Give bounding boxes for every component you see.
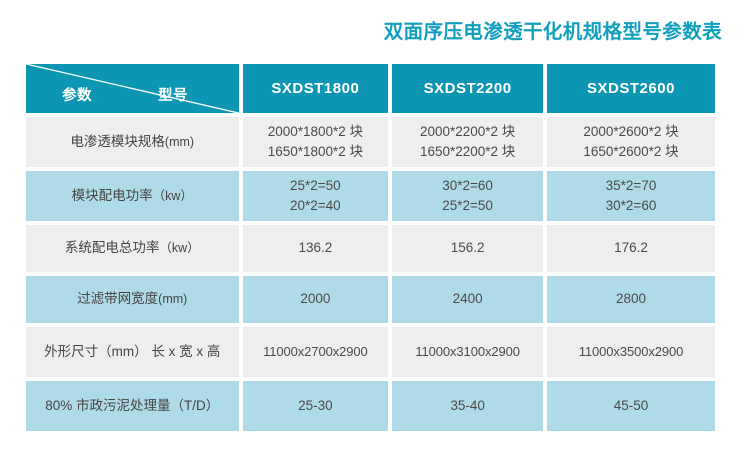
value-line: 2000*2600*2 块	[547, 122, 715, 142]
param-label-text: 过滤带网宽度	[77, 291, 158, 306]
row-label-cell: 外形尺寸（mm） 长 x 宽 x 高	[26, 327, 239, 377]
specification-table: 参数 型号 SXDST1800 SXDST2200 SXDST2600 电渗透模…	[22, 60, 719, 435]
value-group: 11000x2700x2900	[243, 342, 389, 362]
param-label: 系统配电总功率（kw）	[26, 238, 239, 258]
value-line: 1650*2200*2 块	[392, 142, 543, 162]
row-label-cell: 系统配电总功率（kw）	[26, 225, 239, 272]
header-corner-cell: 参数 型号	[26, 64, 239, 113]
value-cell: 11000x3100x2900	[392, 327, 543, 377]
value-line: 11000x3500x2900	[547, 342, 715, 362]
page-title: 双面序压电渗透干化机规格型号参数表	[0, 22, 722, 43]
value-line: 2800	[547, 289, 715, 309]
value-line: 136.2	[243, 238, 389, 258]
param-label: 外形尺寸（mm） 长 x 宽 x 高	[26, 342, 239, 362]
param-label-text: 模块配电功率	[72, 188, 153, 203]
header-model-sxdst2200: SXDST2200	[392, 64, 543, 113]
value-cell: 2000*2200*2 块 1650*2200*2 块	[392, 117, 543, 167]
value-line: 25*2=50	[392, 196, 543, 216]
value-line: 1650*1800*2 块	[243, 142, 389, 162]
value-line: 30*2=60	[547, 196, 715, 216]
value-cell: 2000*2600*2 块 1650*2600*2 块	[547, 117, 715, 167]
param-label-text: 系统配电总功率	[65, 240, 160, 255]
header-model-label: 型号	[158, 89, 188, 104]
value-line: 45-50	[547, 396, 715, 416]
table-row: 过滤带网宽度(mm) 2000 2400 2800	[26, 276, 715, 323]
param-label-sub: 长 x 宽 x 高	[151, 344, 220, 359]
value-cell: 2000*1800*2 块 1650*1800*2 块	[243, 117, 389, 167]
value-group: 35*2=70 30*2=60	[547, 176, 715, 217]
value-cell: 2000	[243, 276, 389, 323]
param-label: 过滤带网宽度(mm)	[26, 289, 239, 309]
value-group: 25*2=50 20*2=40	[243, 176, 389, 217]
value-group: 11000x3500x2900	[547, 342, 715, 362]
value-cell: 45-50	[547, 381, 715, 431]
param-label-unit: （kw）	[153, 189, 193, 203]
page-title-text: 双面序压电渗透干化机规格型号参数表	[384, 22, 722, 43]
value-line: 2400	[392, 289, 543, 309]
value-line: 35*2=70	[547, 176, 715, 196]
value-group: 35-40	[392, 396, 543, 416]
header-model-sxdst1800: SXDST1800	[243, 64, 389, 113]
header-model-sxdst2600: SXDST2600	[547, 64, 715, 113]
value-group: 30*2=60 25*2=50	[392, 176, 543, 217]
value-cell: 176.2	[547, 225, 715, 272]
header-param-label: 参数	[62, 89, 92, 104]
row-label-cell: 电渗透模块规格(mm)	[26, 117, 239, 167]
table-row: 电渗透模块规格(mm) 2000*1800*2 块 1650*1800*2 块 …	[26, 117, 715, 167]
value-group: 2800	[547, 289, 715, 309]
spec-sheet-page: 双面序压电渗透干化机规格型号参数表 参数 型号	[0, 0, 744, 474]
value-group: 25-30	[243, 396, 389, 416]
value-line: 2000*2200*2 块	[392, 122, 543, 142]
value-cell: 25-30	[243, 381, 389, 431]
param-label: 模块配电功率（kw）	[26, 186, 239, 206]
diagonal-divider-icon	[26, 64, 239, 113]
value-group: 156.2	[392, 238, 543, 258]
value-line: 1650*2600*2 块	[547, 142, 715, 162]
value-group: 136.2	[243, 238, 389, 258]
value-line: 156.2	[392, 238, 543, 258]
value-group: 45-50	[547, 396, 715, 416]
param-label-unit: (mm)	[165, 135, 194, 149]
value-line: 35-40	[392, 396, 543, 416]
value-cell: 136.2	[243, 225, 389, 272]
table-row: 80% 市政污泥处理量（T/D） 25-30 35-40 45-50	[26, 381, 715, 431]
value-group: 2000	[243, 289, 389, 309]
param-label-text: 80% 市政污泥处理量（T/D）	[45, 398, 219, 413]
table-row: 模块配电功率（kw） 25*2=50 20*2=40 30*2=60 25*2=…	[26, 171, 715, 221]
value-cell: 35*2=70 30*2=60	[547, 171, 715, 221]
value-line: 2000	[243, 289, 389, 309]
value-cell: 11000x3500x2900	[547, 327, 715, 377]
value-line: 2000*1800*2 块	[243, 122, 389, 142]
value-line: 25*2=50	[243, 176, 389, 196]
value-cell: 25*2=50 20*2=40	[243, 171, 389, 221]
param-label: 电渗透模块规格(mm)	[26, 132, 239, 152]
diagonal-split-cell: 参数 型号	[26, 64, 239, 113]
value-line: 25-30	[243, 396, 389, 416]
value-cell: 30*2=60 25*2=50	[392, 171, 543, 221]
table-row: 系统配电总功率（kw） 136.2 156.2 176.2	[26, 225, 715, 272]
value-group: 2000*2600*2 块 1650*2600*2 块	[547, 122, 715, 163]
param-label-text: 外形尺寸（mm）	[44, 344, 148, 359]
value-line: 11000x3100x2900	[392, 342, 543, 362]
value-cell: 2800	[547, 276, 715, 323]
value-cell: 2400	[392, 276, 543, 323]
param-label-text: 电渗透模块规格	[70, 134, 165, 149]
value-group: 2000*1800*2 块 1650*1800*2 块	[243, 122, 389, 163]
value-cell: 156.2	[392, 225, 543, 272]
value-line: 20*2=40	[243, 196, 389, 216]
value-cell: 11000x2700x2900	[243, 327, 389, 377]
param-label: 80% 市政污泥处理量（T/D）	[26, 396, 239, 416]
param-label-unit: (mm)	[158, 292, 187, 306]
value-group: 2000*2200*2 块 1650*2200*2 块	[392, 122, 543, 163]
value-line: 30*2=60	[392, 176, 543, 196]
row-label-cell: 过滤带网宽度(mm)	[26, 276, 239, 323]
row-label-cell: 模块配电功率（kw）	[26, 171, 239, 221]
value-group: 11000x3100x2900	[392, 342, 543, 362]
value-line: 176.2	[547, 238, 715, 258]
table-header-row: 参数 型号 SXDST1800 SXDST2200 SXDST2600	[26, 64, 715, 113]
value-group: 176.2	[547, 238, 715, 258]
table-row: 外形尺寸（mm） 长 x 宽 x 高 11000x2700x2900 11000…	[26, 327, 715, 377]
param-label-unit: （kw）	[159, 241, 199, 255]
row-label-cell: 80% 市政污泥处理量（T/D）	[26, 381, 239, 431]
value-cell: 35-40	[392, 381, 543, 431]
value-line: 11000x2700x2900	[243, 342, 389, 362]
value-group: 2400	[392, 289, 543, 309]
